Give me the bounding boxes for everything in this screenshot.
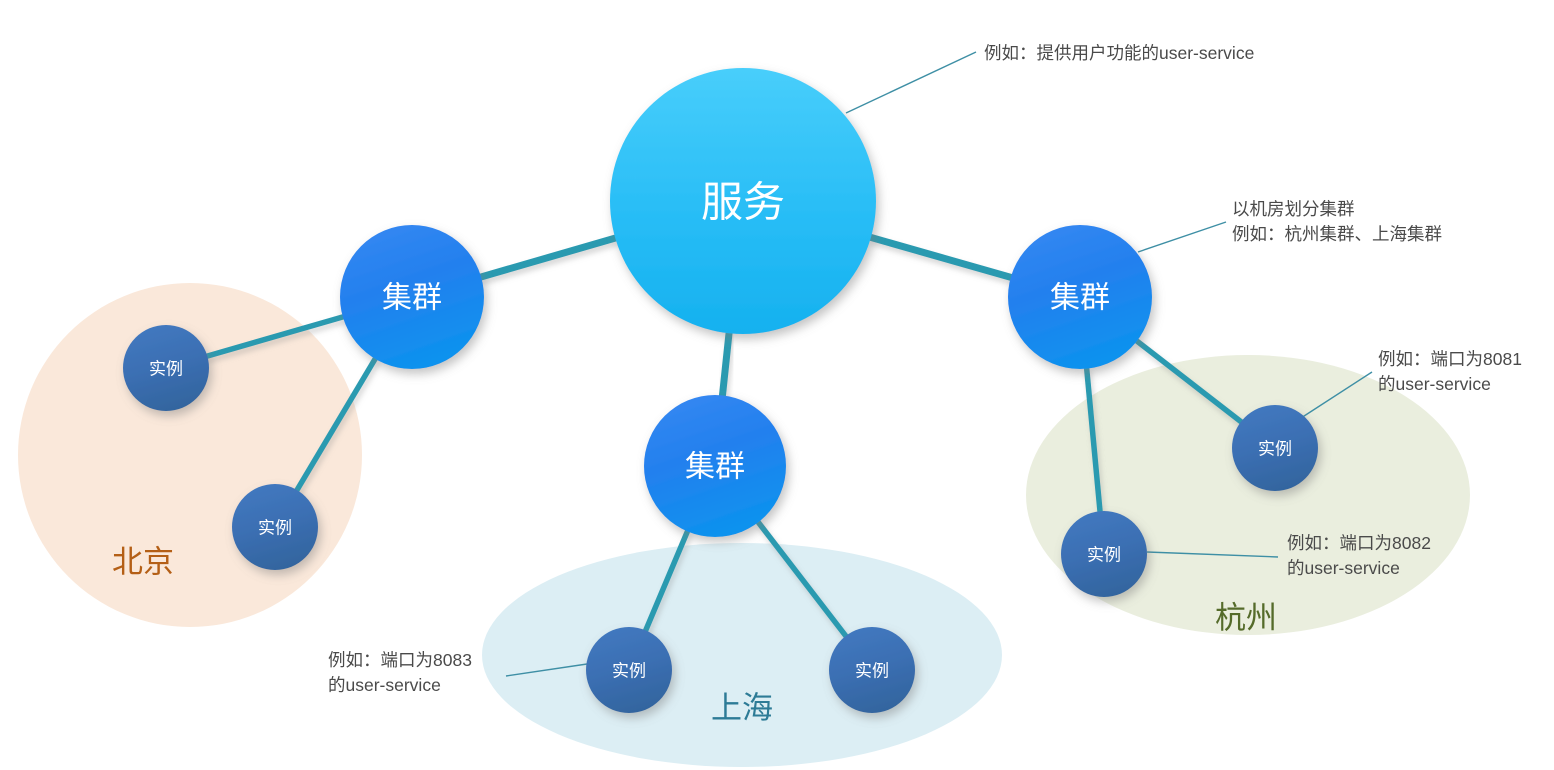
node-label-service: 服务 [701, 179, 785, 226]
leader-line-cluster-note [1138, 222, 1226, 252]
node-label-instance-beijing-1: 实例 [149, 360, 183, 379]
annotation-line: 的user-service [1378, 372, 1522, 397]
node-service[interactable]: 服务 [610, 68, 876, 334]
node-label-instance-shanghai-1: 实例 [612, 662, 646, 681]
node-instance-shanghai-1[interactable]: 实例 [586, 627, 672, 713]
annotation-line: 例如：提供用户功能的user-service [984, 41, 1254, 66]
diagram-canvas: 服务集群集群集群实例实例实例实例实例实例 北京上海杭州 例如：提供用户功能的us… [0, 0, 1554, 770]
node-label-instance-hangzhou-1: 实例 [1258, 440, 1292, 459]
annotation-line: 的user-service [1287, 556, 1431, 581]
region-label-beijing: 北京 [112, 545, 174, 580]
node-label-instance-hangzhou-2: 实例 [1087, 546, 1121, 565]
node-instance-beijing-2[interactable]: 实例 [232, 484, 318, 570]
edge-service-to-cluster-beijing [479, 237, 617, 277]
annotation-instance-8082-note: 例如：端口为8082的user-service [1287, 531, 1431, 582]
node-cluster-hangzhou[interactable]: 集群 [1008, 225, 1152, 369]
node-cluster-shanghai[interactable]: 集群 [644, 395, 786, 537]
annotation-cluster-note: 以机房划分集群例如：杭州集群、上海集群 [1232, 197, 1442, 248]
annotation-line: 例如：杭州集群、上海集群 [1232, 222, 1442, 247]
region-ellipse-shanghai [482, 543, 1002, 767]
service-cluster-instance-diagram: 服务集群集群集群实例实例实例实例实例实例 北京上海杭州 [0, 0, 1554, 770]
node-label-instance-beijing-2: 实例 [258, 519, 292, 538]
annotation-instance-8081-note: 例如：端口为8081的user-service [1378, 347, 1522, 398]
annotation-instance-8083-note: 例如：端口为8083的user-service [328, 648, 472, 699]
annotation-line: 的user-service [328, 673, 472, 698]
node-instance-beijing-1[interactable]: 实例 [123, 325, 209, 411]
edge-service-to-cluster-hangzhou [869, 237, 1013, 278]
node-label-cluster-shanghai: 集群 [685, 451, 745, 484]
edge-service-to-cluster-shanghai [722, 331, 729, 397]
leader-line-service-note [846, 52, 976, 113]
region-label-hangzhou: 杭州 [1215, 601, 1277, 636]
region-label-shanghai: 上海 [711, 691, 773, 726]
annotation-service-note: 例如：提供用户功能的user-service [984, 41, 1254, 66]
annotation-line: 例如：端口为8081 [1378, 347, 1522, 372]
node-label-cluster-beijing: 集群 [382, 282, 442, 315]
node-instance-hangzhou-1[interactable]: 实例 [1232, 405, 1318, 491]
node-instance-hangzhou-2[interactable]: 实例 [1061, 511, 1147, 597]
node-instance-shanghai-2[interactable]: 实例 [829, 627, 915, 713]
node-label-cluster-hangzhou: 集群 [1050, 282, 1110, 315]
annotation-line: 例如：端口为8082 [1287, 531, 1431, 556]
node-cluster-beijing[interactable]: 集群 [340, 225, 484, 369]
node-label-instance-shanghai-2: 实例 [855, 662, 889, 681]
annotation-line: 例如：端口为8083 [328, 648, 472, 673]
annotation-line: 以机房划分集群 [1232, 197, 1442, 222]
